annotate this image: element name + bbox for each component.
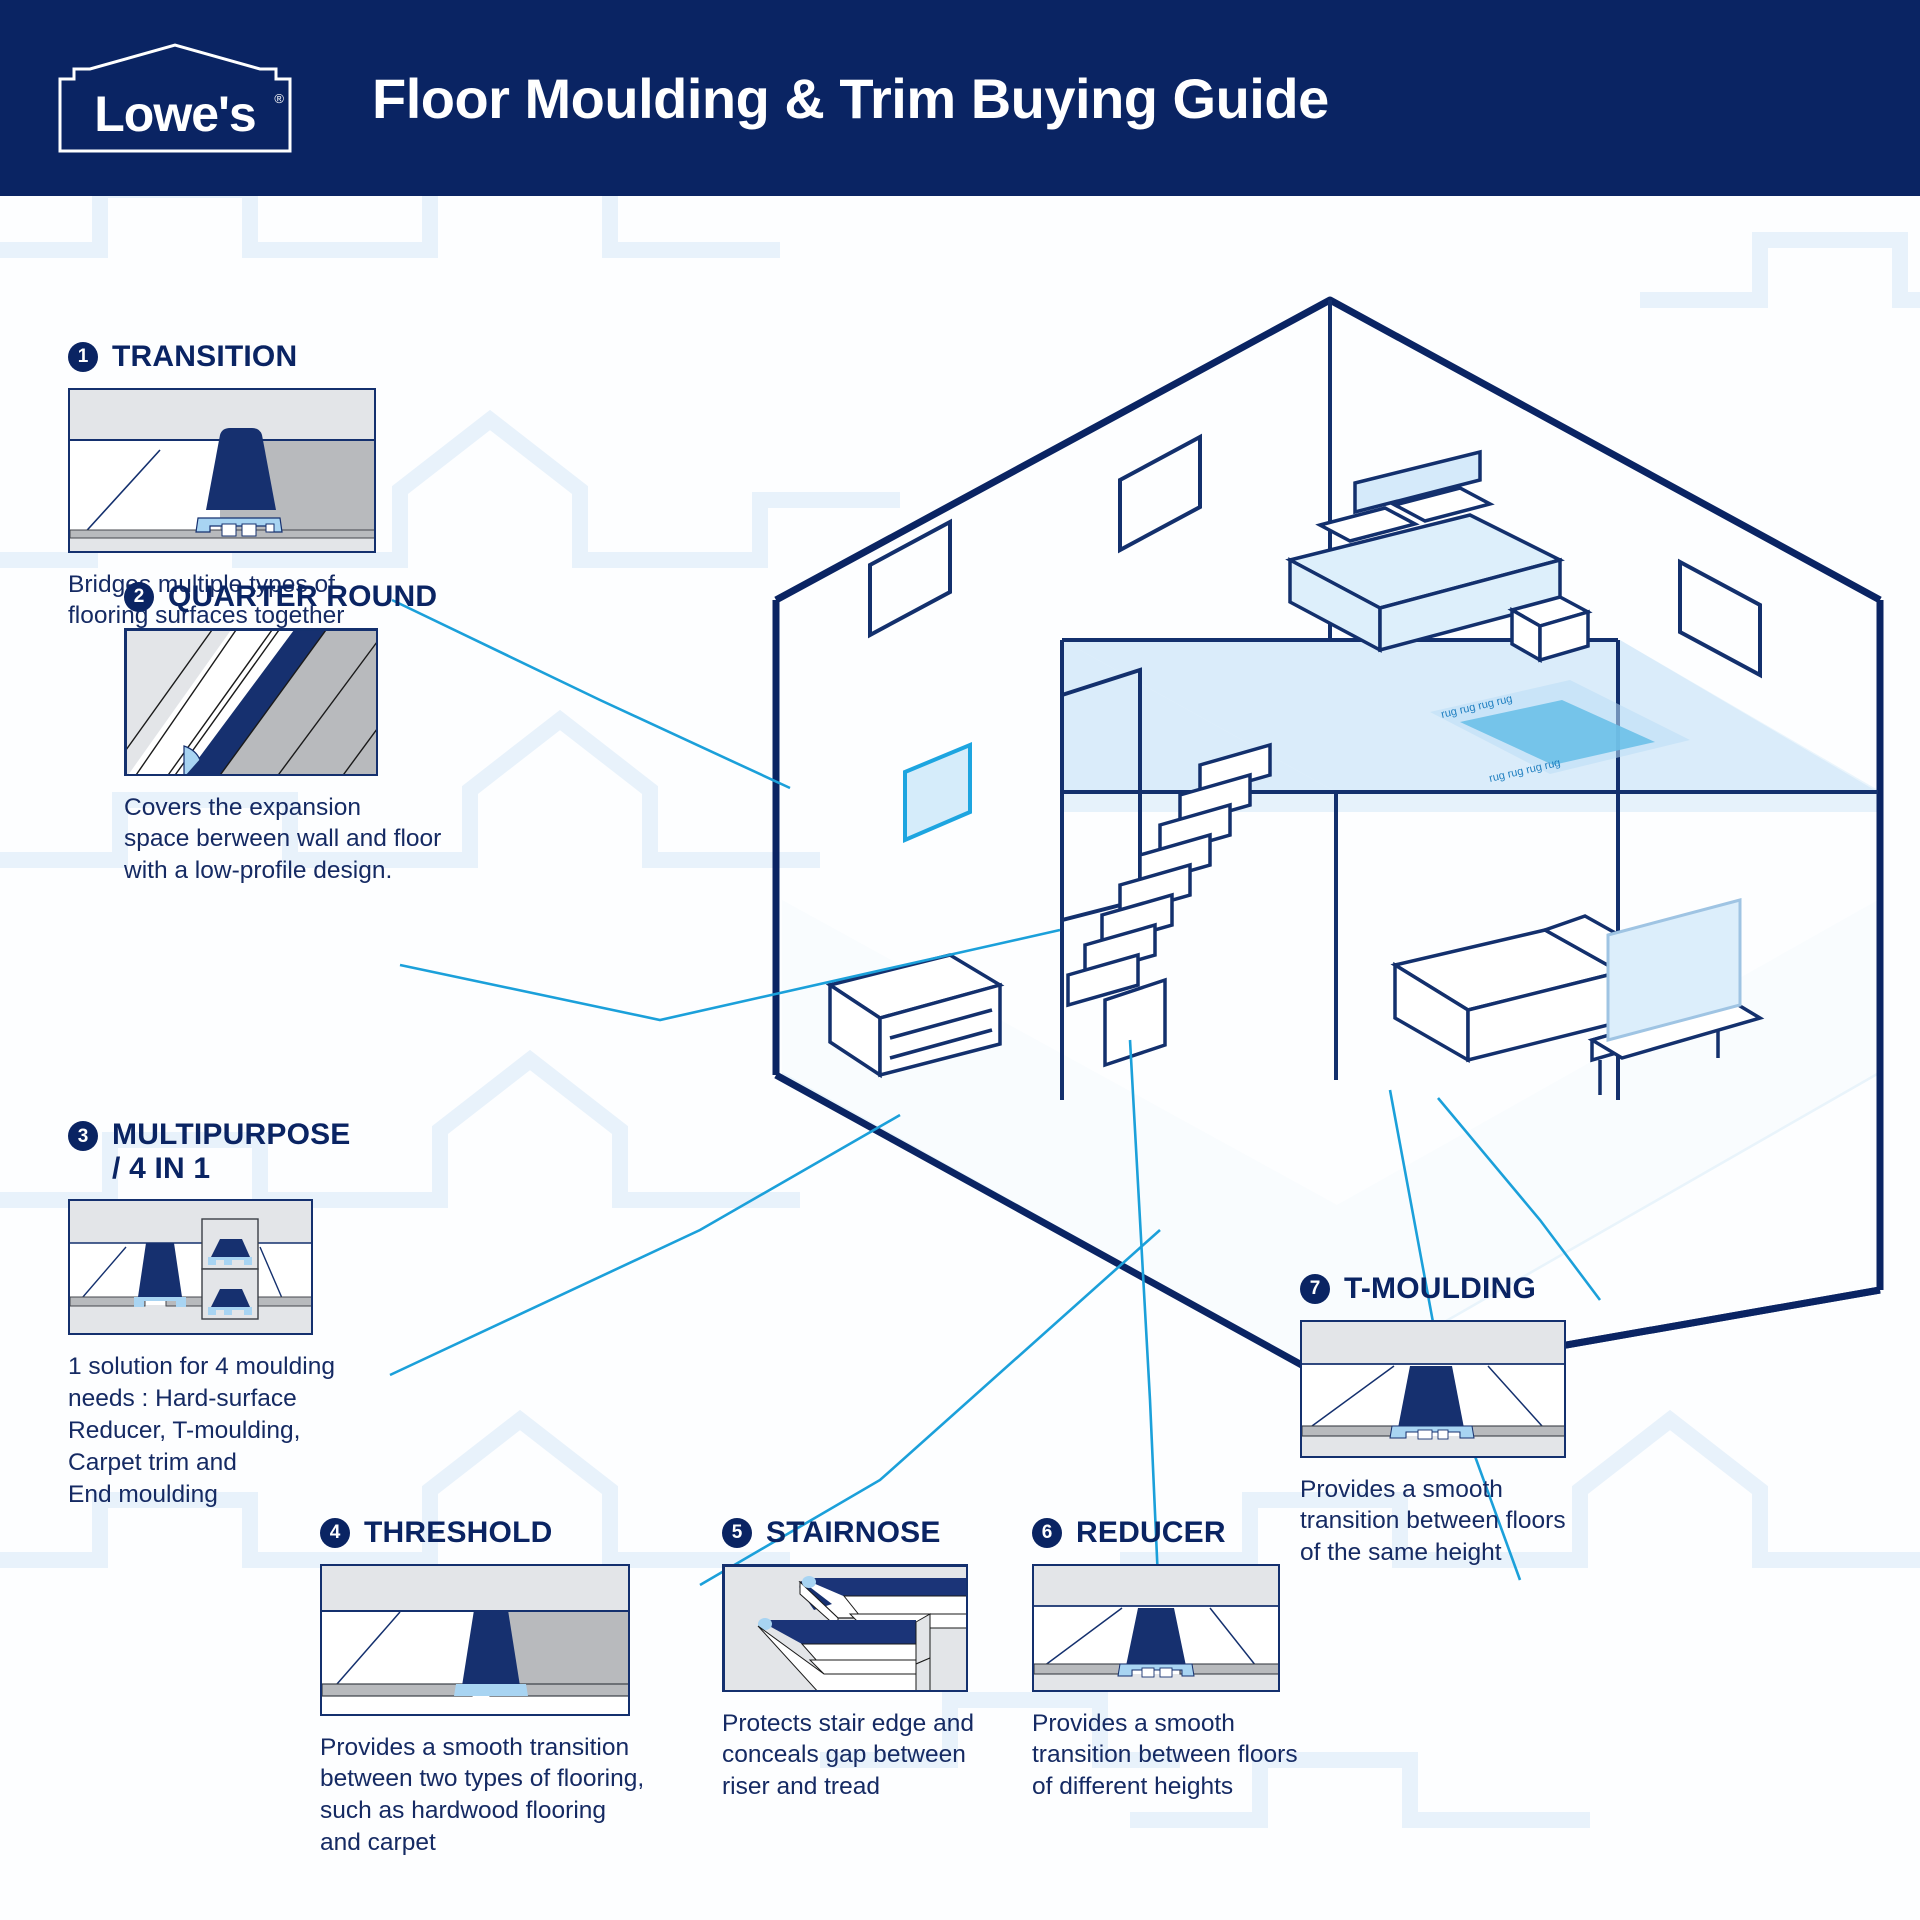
callout-header: 3 MULTIPURPOSE / 4 IN 1 (68, 1118, 398, 1185)
callout-title: STAIRNOSE (766, 1516, 941, 1550)
callout-caption: 1 solution for 4 moulding needs : Hard-s… (68, 1351, 398, 1510)
callout-t-moulding: 7 T-MOULDING Provides a smooth transitio… (1300, 1272, 1630, 1569)
callout-header: 7 T-MOULDING (1300, 1272, 1630, 1306)
figure-transition (68, 388, 376, 553)
rug-label: rug rug rug rug (1440, 693, 1514, 721)
connector-5 (1130, 1040, 1158, 1580)
figure-stairnose (722, 1564, 968, 1692)
callout-stairnose: 5 STAIRNOSE (722, 1516, 1052, 1803)
header-bar: Lowe's ® Floor Moulding & Trim Buying Gu… (0, 0, 1920, 196)
callout-quarter-round: 2 QUARTER ROUND (124, 580, 474, 887)
badge-number: 5 (722, 1518, 752, 1548)
callout-multipurpose: 3 MULTIPURPOSE / 4 IN 1 (68, 1118, 398, 1510)
badge-number: 3 (68, 1121, 98, 1151)
callout-title: QUARTER ROUND (168, 580, 437, 614)
callout-caption: Covers the expansion space berween wall … (124, 792, 474, 888)
callout-caption: Provides a smooth transition between flo… (1032, 1708, 1352, 1804)
callout-header: 1 TRANSITION (68, 340, 398, 374)
figure-reducer (1032, 1564, 1280, 1692)
badge-number: 7 (1300, 1274, 1330, 1304)
figure-threshold (320, 1564, 630, 1716)
badge-number: 2 (124, 582, 154, 612)
page-title: Floor Moulding & Trim Buying Guide (372, 66, 1329, 131)
logo-wordmark: Lowe's (50, 85, 300, 143)
callout-caption: Provides a smooth transition between flo… (1300, 1474, 1630, 1570)
registered-mark: ® (274, 91, 284, 106)
callout-title: MULTIPURPOSE / 4 IN 1 (112, 1118, 351, 1185)
callout-header: 2 QUARTER ROUND (124, 580, 474, 614)
figure-t-moulding (1300, 1320, 1566, 1458)
callout-threshold: 4 THRESHOLD Provides a smooth transition… (320, 1516, 720, 1859)
badge-number: 6 (1032, 1518, 1062, 1548)
infographic-page: Lowe's ® Floor Moulding & Trim Buying Gu… (0, 0, 1920, 1920)
callout-header: 5 STAIRNOSE (722, 1516, 1052, 1550)
callout-title: TRANSITION (112, 340, 297, 374)
figure-multipurpose (68, 1199, 313, 1335)
connector-3 (390, 1115, 900, 1375)
badge-number: 1 (68, 342, 98, 372)
connector-2 (400, 930, 1060, 1020)
callout-header: 4 THRESHOLD (320, 1516, 720, 1550)
figure-quarter-round (124, 628, 378, 776)
connector-7 (1438, 1098, 1600, 1300)
lowes-logo[interactable]: Lowe's ® (50, 39, 300, 157)
svg-text:rug rug rug rug: rug rug rug rug (1488, 757, 1562, 785)
callout-caption: Protects stair edge and conceals gap bet… (722, 1708, 1052, 1804)
badge-number: 4 (320, 1518, 350, 1548)
callout-caption: Provides a smooth transition between two… (320, 1732, 720, 1859)
callout-title: REDUCER (1076, 1516, 1226, 1550)
callout-title: T-MOULDING (1344, 1272, 1536, 1306)
callout-title: THRESHOLD (364, 1516, 552, 1550)
